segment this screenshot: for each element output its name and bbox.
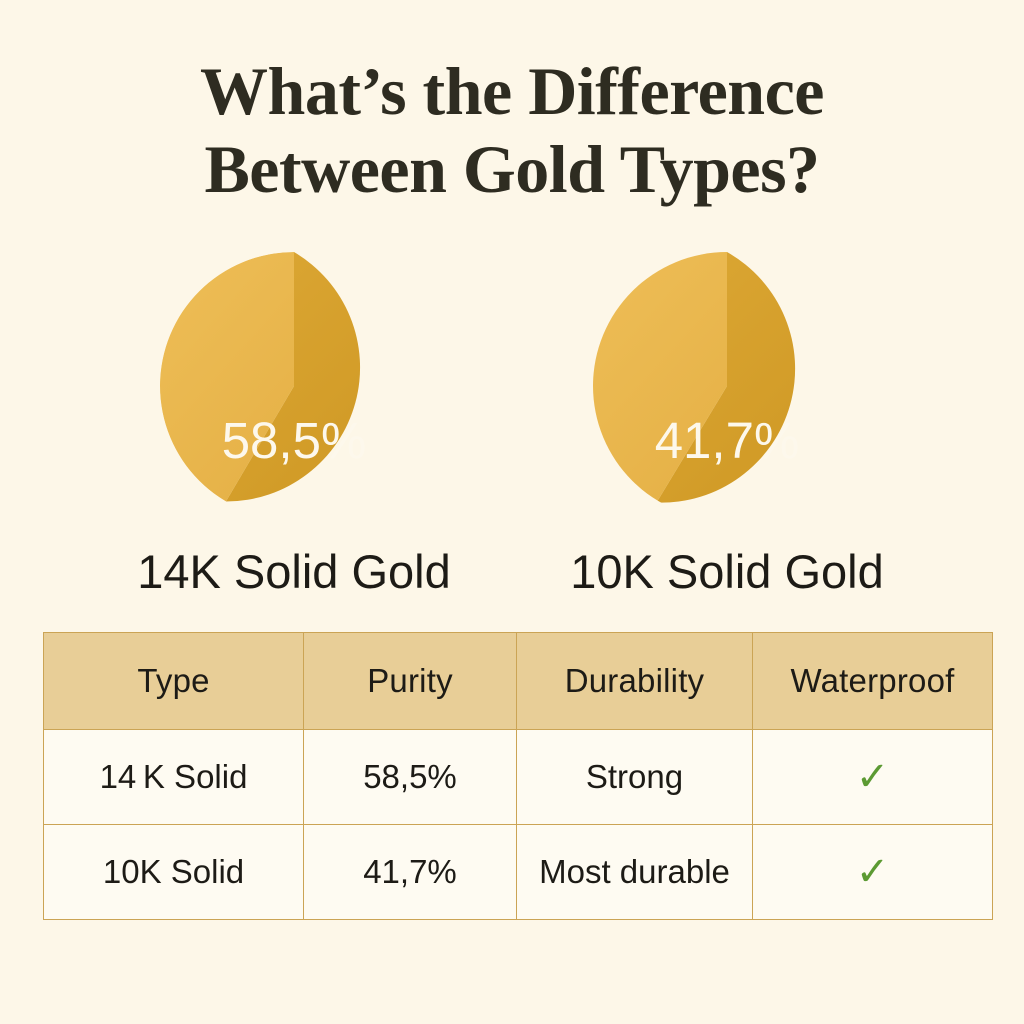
column-header-durability: Durability bbox=[517, 633, 753, 730]
pie-chart-10k bbox=[593, 252, 861, 520]
table-row: 10K Solid 41,7% Most durable ✓ bbox=[44, 825, 993, 920]
chart-caption-14k: 14K Solid Gold bbox=[64, 545, 524, 599]
cell-purity-10k: 41,7% bbox=[304, 825, 517, 920]
pie-value-14k: 58,5% bbox=[160, 412, 428, 470]
cell-type-10k: 10K Solid bbox=[44, 825, 304, 920]
table-row: 14 K Solid 58,5% Strong ✓ bbox=[44, 730, 993, 825]
table-head: Type Purity Durability Waterproof bbox=[44, 633, 993, 730]
cell-type-14k: 14 K Solid bbox=[44, 730, 304, 825]
chart-unit-14k: 58,5% bbox=[144, 252, 444, 527]
table-body: 14 K Solid 58,5% Strong ✓ 10K Solid 41,7… bbox=[44, 730, 993, 920]
title-line-1: What’s the Difference bbox=[0, 52, 1024, 130]
cell-durability-10k: Most durable bbox=[517, 825, 753, 920]
column-header-type: Type bbox=[44, 633, 304, 730]
page-title: What’s the Difference Between Gold Types… bbox=[0, 52, 1024, 208]
cell-purity-14k: 58,5% bbox=[304, 730, 517, 825]
check-icon: ✓ bbox=[856, 852, 890, 892]
pie-chart-14k bbox=[160, 252, 428, 520]
chart-unit-10k: 41,7% bbox=[577, 252, 877, 527]
pie-value-10k: 41,7% bbox=[593, 412, 861, 470]
chart-caption-10k: 10K Solid Gold bbox=[497, 545, 957, 599]
column-header-waterproof: Waterproof bbox=[753, 633, 993, 730]
cell-durability-14k: Strong bbox=[517, 730, 753, 825]
comparison-table-wrapper: Type Purity Durability Waterproof 14 K S… bbox=[43, 632, 980, 920]
table-header-row: Type Purity Durability Waterproof bbox=[44, 633, 993, 730]
infographic-canvas: What’s the Difference Between Gold Types… bbox=[0, 0, 1024, 1024]
title-line-2: Between Gold Types? bbox=[0, 130, 1024, 208]
cell-waterproof-14k: ✓ bbox=[753, 730, 993, 825]
comparison-table: Type Purity Durability Waterproof 14 K S… bbox=[43, 632, 993, 920]
column-header-purity: Purity bbox=[304, 633, 517, 730]
check-icon: ✓ bbox=[856, 757, 890, 797]
pie-charts-row: 58,5% bbox=[0, 252, 1024, 527]
cell-waterproof-10k: ✓ bbox=[753, 825, 993, 920]
